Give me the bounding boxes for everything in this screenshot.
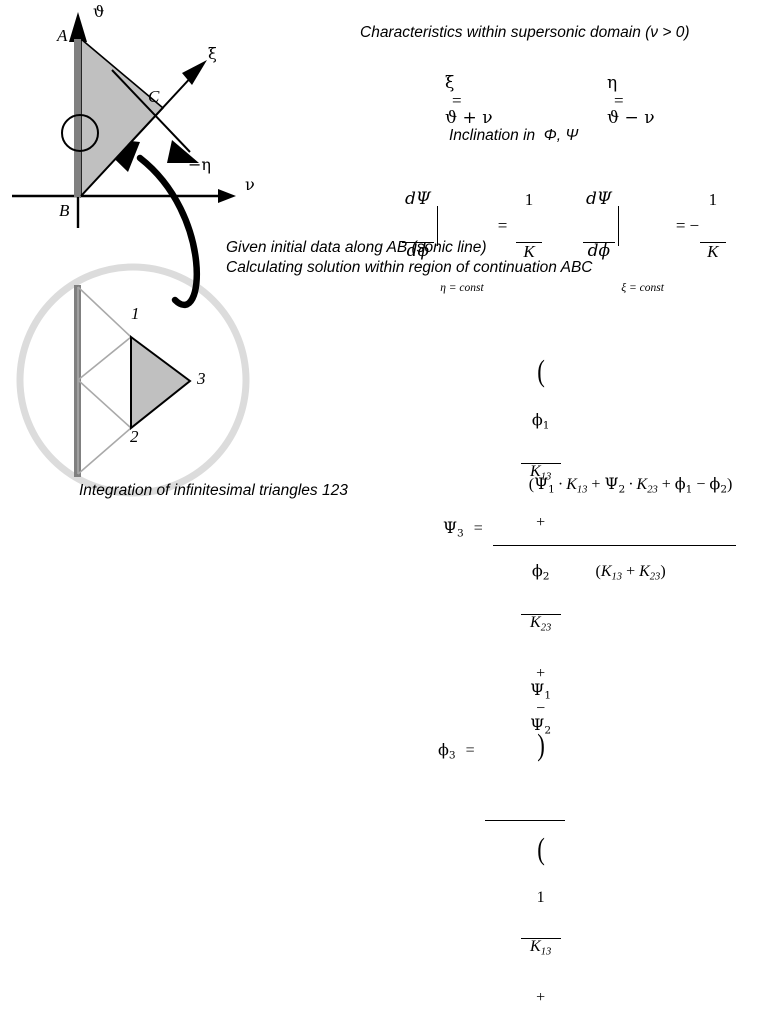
axis-nu-arrowhead xyxy=(218,189,236,203)
shaded-triangle-123 xyxy=(131,337,190,428)
magnifier-caption: Integration of infinitesimal triangles 1… xyxy=(79,483,348,499)
incl-right-eq: = xyxy=(664,217,690,234)
psi3-lhs: Ψ3 xyxy=(443,520,464,539)
axis-label-xi: ξ xyxy=(208,46,217,62)
psi3-num-dot1: · xyxy=(555,476,566,493)
incl-right-sign: − xyxy=(690,217,701,234)
psi3-den-op1: + xyxy=(622,563,639,580)
phi3-eq: = xyxy=(456,743,485,759)
magnifier-node-2: 2 xyxy=(130,428,139,445)
figure-canvas: ϑ ν ξ −η A B C 1 2 3 Integration of infi… xyxy=(0,0,768,510)
psi3-num-d: K23 xyxy=(637,476,658,493)
incl-right-num: dΨ xyxy=(583,191,615,208)
phi3-den-t1-num: 1 xyxy=(521,890,561,906)
incl-right-result-den: K xyxy=(700,242,726,260)
equation-eta-rhs: ϑ − ν xyxy=(607,108,655,128)
psi3-den-b: K23 xyxy=(639,563,660,580)
psi3-num-op3: − xyxy=(692,476,709,493)
incl-left-result-num: 1 xyxy=(516,191,542,208)
equation-psi3: Ψ3 = (Ψ1·K13+Ψ2·K23+ϕ1−ϕ2) (K13+K23) xyxy=(443,428,736,631)
incl-right-eval-bar xyxy=(618,206,619,246)
psi3-num-close: ) xyxy=(727,476,732,493)
incl-right-result-num: 1 xyxy=(700,191,726,208)
phi3-den-op1: + xyxy=(532,989,549,1006)
axis-label-nu: ν xyxy=(245,177,255,193)
psi3-num-dot2: · xyxy=(625,476,636,493)
shaded-region-abc xyxy=(81,39,163,196)
magnifier-node-1: 1 xyxy=(131,305,140,322)
incl-right-result: 1 K xyxy=(700,157,726,294)
equation-inclination-right: dΨ dϕ ξ = const = − 1 K xyxy=(583,157,726,294)
equation-eta-lhs: η xyxy=(607,73,617,93)
main-axes-group xyxy=(12,12,236,228)
heading-inclination: Inclination in Φ, Ψ xyxy=(449,128,578,144)
psi3-numerator: (Ψ1·K13+Ψ2·K23+ϕ1−ϕ2) xyxy=(493,460,737,513)
equation-phi3: ϕ3 = ( ϕ1 K13 + ϕ2 K23 + Ψ1 − Ψ2 ) xyxy=(438,298,565,1020)
psi3-den-close: ) xyxy=(660,563,665,580)
phi3-den-t1-den: K13 xyxy=(521,938,561,958)
psi3-den-a: K13 xyxy=(601,563,622,580)
point-label-c: C xyxy=(148,88,159,105)
phi3-num-term3: Ψ1 xyxy=(530,680,551,699)
incl-left-eq: = xyxy=(484,217,517,234)
mesh-lines xyxy=(78,287,131,474)
phi3-den-term1: 1 K13 xyxy=(521,858,561,990)
phi3-num-close-paren: ) xyxy=(537,736,545,754)
psi3-fraction: (Ψ1·K13+Ψ2·K23+ϕ1−ϕ2) (K13+K23) xyxy=(493,428,737,631)
incl-right-den: dϕ xyxy=(583,242,615,260)
axis-label-theta: ϑ xyxy=(93,4,104,20)
characteristic-xi-arrowhead xyxy=(182,60,207,85)
psi3-eq: = xyxy=(464,521,493,537)
phi3-num-open-paren: ( xyxy=(537,362,545,380)
phi3-den-open-paren: ( xyxy=(537,840,545,858)
incl-right-condition: ξ = const xyxy=(621,283,664,295)
psi3-num-c: Ψ2 xyxy=(604,474,625,493)
phi3-lhs: ϕ3 xyxy=(438,742,456,761)
equation-xi-rhs: ϑ + ν xyxy=(445,108,493,128)
heading-characteristics: Characteristics within supersonic domain… xyxy=(360,25,690,41)
equation-xi-lhs: ξ xyxy=(445,73,454,93)
incl-left-num: dΨ xyxy=(402,191,434,208)
psi3-num-op1: + xyxy=(587,476,604,493)
given-data-line-2: Calculating solution within region of co… xyxy=(226,260,592,276)
equation-eta: η = ϑ − ν xyxy=(590,57,655,144)
axis-theta-arrowhead xyxy=(69,12,87,42)
phi3-denominator: ( 1 K13 + 1 K23 ) xyxy=(485,820,565,1020)
psi3-num-f: ϕ2 xyxy=(709,474,727,493)
magnifier-group xyxy=(20,267,246,493)
point-label-a: A xyxy=(57,27,67,44)
magnifier-node-3: 3 xyxy=(197,370,206,387)
psi3-num-a: Ψ1 xyxy=(534,474,555,493)
psi3-num-e: ϕ1 xyxy=(675,474,693,493)
incl-left-result-den: K xyxy=(516,242,542,260)
axis-label-minus-eta: −η xyxy=(188,157,211,173)
incl-left-condition: η = const xyxy=(440,283,484,295)
phi3-big-fraction: ( ϕ1 K13 + ϕ2 K23 + Ψ1 − Ψ2 ) ( xyxy=(485,298,565,1020)
psi3-num-op2: + xyxy=(658,476,675,493)
phi3-num-term4: Ψ2 xyxy=(530,715,551,734)
sonic-line-ab xyxy=(74,39,81,197)
phi3-den-term2: 1 K23 xyxy=(521,1006,561,1020)
psi3-num-b: K13 xyxy=(566,476,587,493)
given-data-line-1: Given initial data along AB (sonic line) xyxy=(226,240,486,256)
psi3-denominator: (K13+K23) xyxy=(493,545,737,599)
point-label-b: B xyxy=(59,202,69,219)
